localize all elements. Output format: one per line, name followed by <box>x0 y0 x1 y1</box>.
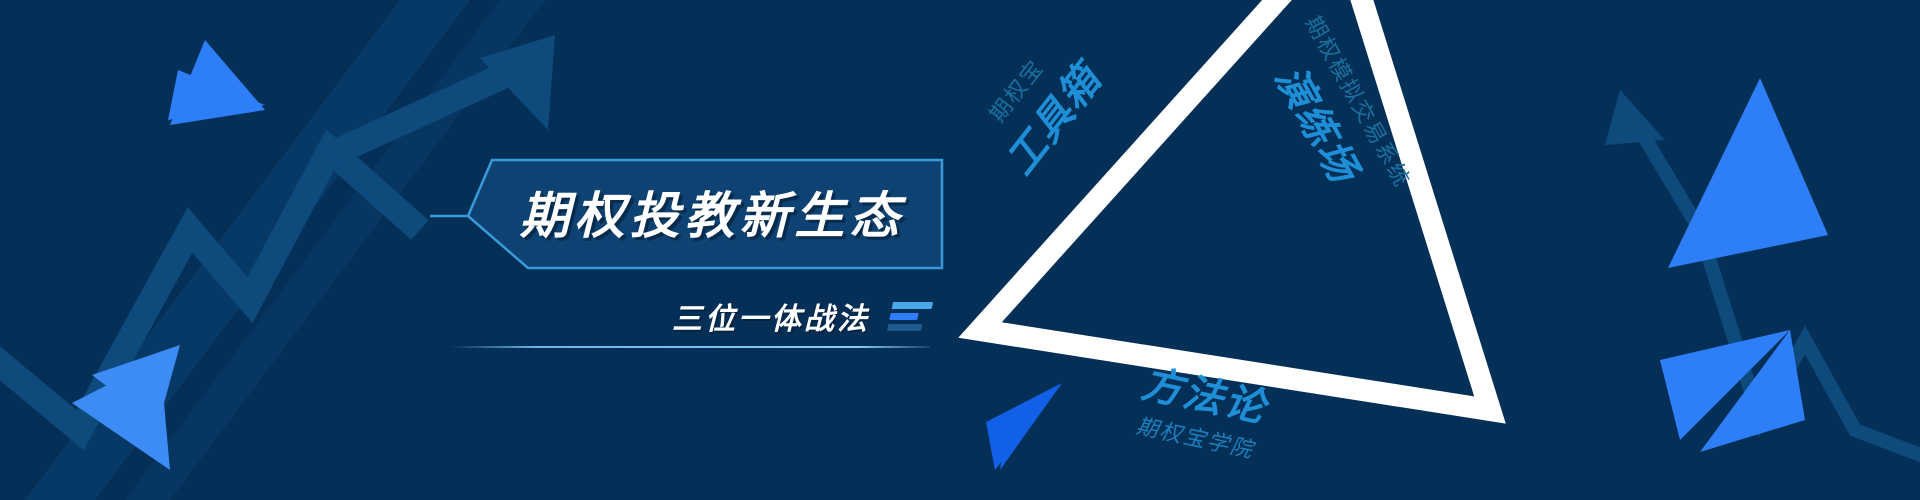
subtitle-text: 三位一体战法 <box>672 294 870 338</box>
three-bars-icon <box>887 302 933 331</box>
subtitle-row: 三位一体战法 <box>510 290 930 342</box>
promo-banner: 期权宝 工具箱 期权模拟交易系统 演练场 方法论 期权宝学院 期权投教新生态 三… <box>0 0 1920 500</box>
title-block: 期权投教新生态 三位一体战法 <box>430 150 950 410</box>
triangle-shard-top-right <box>1668 78 1828 268</box>
strategy-triangle: 期权宝 工具箱 期权模拟交易系统 演练场 方法论 期权宝学院 <box>930 0 1650 500</box>
page-title: 期权投教新生态 <box>502 172 922 252</box>
subtitle-divider <box>450 346 930 348</box>
